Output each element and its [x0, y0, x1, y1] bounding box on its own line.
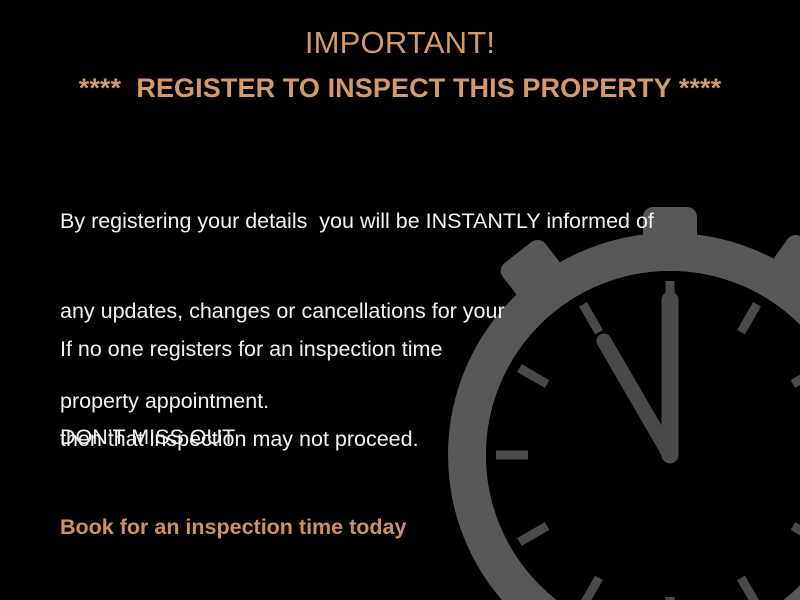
- paragraph2-line1: If no one registers for an inspection ti…: [60, 334, 442, 364]
- paragraph1-line1: By registering your details you will be …: [60, 206, 654, 236]
- cta-dont-miss-out: DON’T MISS OUT: [60, 422, 406, 452]
- promo-slide: IMPORTANT! **** REGISTER TO INSPECT THIS…: [0, 0, 800, 600]
- text-layer: IMPORTANT! **** REGISTER TO INSPECT THIS…: [0, 0, 800, 600]
- headline-subtitle: **** REGISTER TO INSPECT THIS PROPERTY *…: [0, 74, 800, 104]
- page-title: IMPORTANT!: [0, 26, 800, 60]
- paragraph-call-to-action: DON’T MISS OUT Book for an inspection ti…: [60, 362, 406, 600]
- cta-book-inspection: Book for an inspection time today: [60, 512, 406, 542]
